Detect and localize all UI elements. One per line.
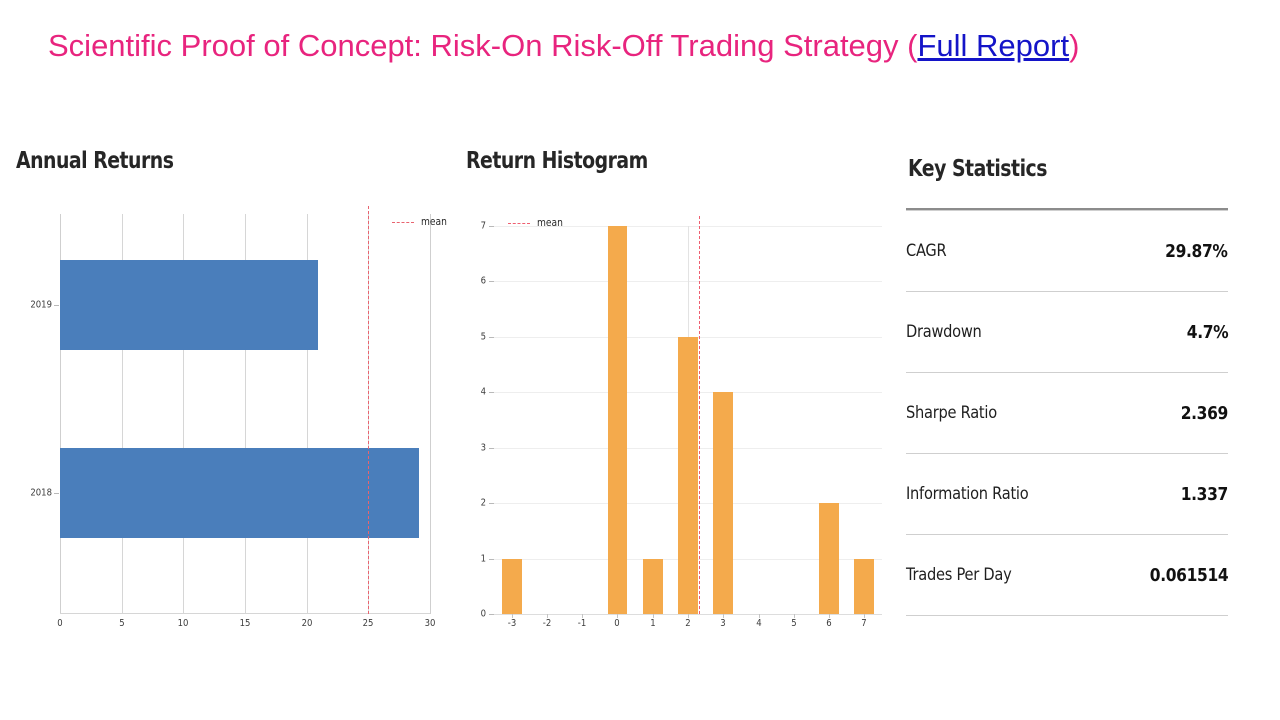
return-histogram-plot-area: 01234567-3-2-101234567mean [494, 226, 882, 614]
x-axis-tick-label: -1 [578, 618, 586, 629]
key-statistics-title: Key Statistics [908, 156, 1047, 182]
y-axis-tick-label-2019: 2019 [25, 300, 52, 311]
mean-legend-swatch [392, 222, 414, 223]
mean-legend-label: mean [421, 216, 447, 228]
stat-value-cell: 0.061514 [1102, 535, 1228, 616]
table-row: Information Ratio1.337 [906, 454, 1228, 535]
mean-legend: mean [392, 216, 451, 228]
key-statistics-panel: Key Statistics CAGR29.87%Drawdown4.7%Sha… [898, 156, 1238, 646]
stat-value: 2.369 [1181, 403, 1228, 424]
table-row: Drawdown4.7% [906, 292, 1228, 373]
bar-2019 [60, 260, 318, 350]
y-axis-tick-mark [489, 448, 494, 449]
stat-value: 1.337 [1181, 484, 1228, 505]
y-axis-tick-label: 6 [472, 276, 486, 287]
x-axis-tick-label: -3 [507, 618, 515, 629]
y-axis-tick-label: 0 [472, 609, 486, 620]
table-row: Sharpe Ratio2.369 [906, 373, 1228, 454]
mean-legend: mean [508, 217, 567, 229]
x-axis-tick-label: 3 [721, 618, 726, 629]
y-axis-tick-label: 7 [472, 221, 486, 232]
x-axis-tick-label: 25 [363, 618, 374, 629]
y-axis-tick-label: 1 [472, 553, 486, 564]
stat-label-cell: Sharpe Ratio [906, 373, 1102, 454]
gridline-vertical [430, 214, 431, 614]
x-axis-tick-label: 30 [425, 618, 436, 629]
stat-label: Information Ratio [906, 484, 1028, 504]
mean-line [368, 206, 369, 614]
y-axis-tick-mark [489, 559, 494, 560]
bar-2 [678, 337, 698, 614]
x-axis-tick-label: 10 [178, 618, 189, 629]
bar-1 [643, 559, 663, 614]
y-axis-tick-mark [489, 281, 494, 282]
stat-value: 29.87% [1166, 241, 1228, 262]
y-axis-tick-label-2018: 2018 [25, 488, 52, 499]
y-axis-tick-mark [489, 226, 494, 227]
return-histogram-title: Return Histogram [466, 148, 827, 174]
mean-line [699, 216, 700, 614]
stat-label: CAGR [906, 241, 946, 261]
y-axis-tick-mark [489, 392, 494, 393]
annual-returns-chart: 05101520253020182019mean [60, 214, 430, 614]
bar-0 [608, 226, 628, 614]
annual-returns-title: Annual Returns [16, 148, 377, 174]
mean-legend-label: mean [537, 217, 563, 229]
stat-label-cell: Information Ratio [906, 454, 1102, 535]
stat-label-cell: CAGR [906, 211, 1102, 292]
stat-label: Drawdown [906, 322, 982, 342]
stat-label: Sharpe Ratio [906, 403, 997, 423]
stat-value: 0.061514 [1149, 565, 1228, 586]
annual-returns-panel: Annual Returns 05101520253020182019mean [16, 148, 456, 648]
key-statistics-table: CAGR29.87%Drawdown4.7%Sharpe Ratio2.369I… [906, 208, 1228, 616]
y-axis-tick-mark [489, 614, 494, 615]
stat-value-cell: 2.369 [1102, 373, 1228, 454]
x-axis-tick-label: 0 [57, 618, 62, 629]
y-axis-tick-label: 4 [472, 387, 486, 398]
bar-6 [819, 503, 839, 614]
x-axis-tick-label: 6 [826, 618, 831, 629]
annual-returns-plot-area: 05101520253020182019mean [60, 214, 430, 614]
table-row: Trades Per Day0.061514 [906, 535, 1228, 616]
x-axis-tick-label: 15 [240, 618, 251, 629]
open-paren: ( [907, 28, 917, 63]
mean-legend-swatch [508, 223, 530, 224]
x-axis-tick-label: 1 [650, 618, 655, 629]
stat-label: Trades Per Day [906, 565, 1011, 585]
bar-2018 [60, 448, 419, 538]
return-histogram-chart: 01234567-3-2-101234567mean [494, 226, 882, 614]
stat-value-cell: 1.337 [1102, 454, 1228, 535]
return-histogram-panel: Return Histogram 01234567-3-2-101234567m… [466, 148, 906, 648]
full-report-link[interactable]: Full Report [917, 28, 1069, 63]
x-axis-tick-label: 4 [756, 618, 761, 629]
y-axis-tick-mark [489, 337, 494, 338]
stat-label-cell: Trades Per Day [906, 535, 1102, 616]
page-title-text: Scientific Proof of Concept: Risk-On Ris… [48, 28, 907, 63]
bar-7 [854, 559, 874, 614]
x-axis-tick-label: 0 [615, 618, 620, 629]
bar--3 [502, 559, 522, 614]
y-axis-tick-label: 3 [472, 442, 486, 453]
table-row: CAGR29.87% [906, 211, 1228, 292]
stat-label-cell: Drawdown [906, 292, 1102, 373]
close-paren: ) [1069, 28, 1079, 63]
y-axis-tick-label: 5 [472, 331, 486, 342]
y-axis-tick-label: 2 [472, 498, 486, 509]
x-axis-tick-label: 5 [791, 618, 796, 629]
stat-value: 4.7% [1186, 322, 1228, 343]
x-axis-tick-label: 7 [862, 618, 867, 629]
x-axis-tick-label: -2 [543, 618, 551, 629]
page-title: Scientific Proof of Concept: Risk-On Ris… [48, 28, 1238, 64]
y-axis-tick-mark [54, 493, 59, 494]
y-axis-tick-mark [54, 305, 59, 306]
bar-3 [713, 392, 733, 614]
stat-value-cell: 4.7% [1102, 292, 1228, 373]
y-axis-tick-mark [489, 503, 494, 504]
x-axis-tick-label: 2 [685, 618, 690, 629]
x-axis-line [60, 613, 430, 614]
x-axis-tick-label: 20 [301, 618, 312, 629]
stat-value-cell: 29.87% [1102, 211, 1228, 292]
x-axis-tick-label: 5 [119, 618, 124, 629]
